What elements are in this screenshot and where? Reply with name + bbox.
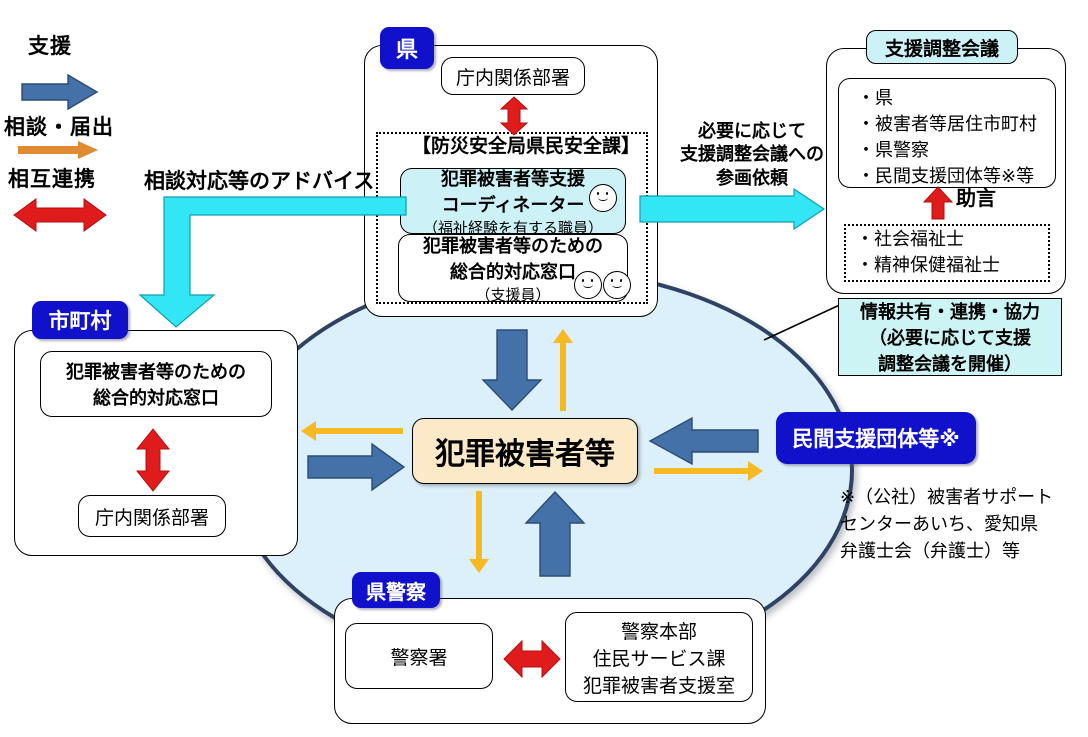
private-footnote-line2: センターあいち、愛知県 — [840, 511, 1080, 538]
police-hq-box: 警察本部 住民サービス課 犯罪被害者支援室 — [565, 612, 753, 702]
legend-red-double-arrow-icon — [12, 196, 108, 234]
prefecture-section-title: 【防災安全局県民安全課】 — [412, 136, 640, 158]
council-member-1: ・被害者等居住市町村 — [857, 110, 1037, 136]
private-org-footnote: ※（公社）被害者サポート センターあいち、愛知県 弁護士会（弁護士）等 — [840, 484, 1080, 565]
council-member-3: ・民間支援団体等※等 — [857, 162, 1034, 188]
legend-label-mutual: 相互連携 — [8, 168, 96, 192]
police-hq-line2: 住民サービス課 — [592, 644, 725, 671]
municipality-counter-line2: 総合的対応窓口 — [93, 384, 219, 410]
arrow-victim-to-police-yellow — [468, 490, 490, 574]
private-footnote-line3: 弁護士会（弁護士）等 — [840, 538, 1080, 565]
arrow-victim-to-private-yellow — [652, 460, 764, 482]
coordinator-line1: 犯罪被害者等支援 — [441, 165, 585, 191]
victim-center-box: 犯罪被害者等 — [412, 418, 638, 484]
arrow-victim-to-municipality-yellow — [300, 420, 404, 442]
arrow-victim-to-prefecture-yellow — [552, 328, 574, 412]
advice-cyan-elbow-arrow — [138, 195, 408, 330]
police-red-double-arrow — [503, 638, 561, 680]
legend-blue-arrow-icon — [20, 72, 100, 112]
counter-smiley-icon-2 — [603, 271, 631, 299]
private-org-badge: 民間支援団体等※ — [776, 412, 976, 464]
prefecture-badge-label: 県 — [396, 32, 418, 64]
council-request-cyan-arrow — [640, 188, 826, 230]
municipality-internal-dept-label: 庁内関係部署 — [95, 503, 209, 530]
request-line1: 必要に応じて — [668, 120, 836, 143]
police-badge: 県警察 — [352, 572, 440, 608]
info-callout-connector-line — [760, 300, 848, 342]
municipality-badge-label: 市町村 — [49, 305, 112, 335]
police-hq-line3: 犯罪被害者支援室 — [583, 671, 735, 698]
prefecture-internal-dept-label: 庁内関係部署 — [456, 63, 570, 90]
municipality-red-double-arrow — [134, 428, 172, 492]
council-badge-label: 支援調整会議 — [885, 34, 999, 61]
prefecture-counter-line3: （支援員） — [475, 284, 550, 305]
coordinator-smiley-icon — [589, 184, 617, 212]
council-member-0: ・県 — [857, 84, 893, 110]
prefecture-internal-dept-box: 庁内関係部署 — [441, 57, 585, 95]
council-advice-label: 助言 — [956, 188, 996, 211]
municipality-badge: 市町村 — [32, 301, 128, 339]
private-footnote-line1: ※（公社）被害者サポート — [840, 484, 1080, 511]
arrow-municipality-to-victim-blue — [306, 442, 406, 492]
police-hq-line1: 警察本部 — [621, 617, 697, 644]
council-advisors-text: ・社会福祉士 ・精神保健福祉士 — [856, 226, 1046, 278]
municipality-counter-line1: 犯罪被害者等のための — [66, 358, 246, 384]
legend-label-support: 支援 — [28, 35, 72, 59]
coordinator-line2: コーディネーター — [442, 191, 585, 217]
info-callout-line3: 調整会議を開催） — [878, 350, 1022, 376]
counter-smiley-icon-1 — [574, 271, 602, 299]
arrow-police-to-victim-blue — [524, 490, 586, 578]
prefecture-red-double-arrow — [498, 96, 530, 136]
prefecture-counter-line2: 総合的対応窓口 — [450, 258, 576, 284]
council-badge: 支援調整会議 — [866, 30, 1018, 64]
legend-orange-arrow-icon — [16, 140, 100, 160]
council-advisor-1: ・精神保健福祉士 — [856, 252, 1046, 278]
council-advice-red-arrow — [922, 186, 954, 220]
police-badge-label: 県警察 — [366, 576, 426, 605]
police-station-box: 警察署 — [345, 623, 493, 689]
legend-label-consult: 相談・届出 — [4, 116, 114, 140]
council-member-2: ・県警察 — [857, 136, 929, 162]
arrow-prefecture-to-victim-blue — [481, 328, 543, 412]
municipality-counter-box: 犯罪被害者等のための 総合的対応窓口 — [40, 351, 272, 417]
request-line3: 参画依頼 — [668, 167, 836, 190]
prefecture-badge: 県 — [380, 27, 434, 69]
police-station-label: 警察署 — [390, 643, 447, 670]
arrow-private-to-victim-blue — [648, 416, 760, 466]
private-org-badge-label: 民間支援団体等※ — [792, 423, 959, 453]
info-callout-line2: （必要に応じて支援 — [869, 324, 1031, 350]
victim-label: 犯罪被害者等 — [435, 429, 615, 473]
council-members-box: ・県 ・被害者等居住市町村 ・県警察 ・民間支援団体等※等 — [838, 78, 1056, 188]
council-request-label: 必要に応じて 支援調整会議への 参画依頼 — [668, 120, 836, 190]
council-advisor-0: ・社会福祉士 — [856, 226, 1046, 252]
advice-label: 相談対応等のアドバイス — [144, 170, 374, 194]
request-line2: 支援調整会議への — [668, 143, 836, 166]
info-share-callout: 情報共有・連携・協力 （必要に応じて支援 調整会議を開催） — [838, 298, 1062, 376]
municipality-internal-dept-box: 庁内関係部署 — [78, 495, 226, 537]
info-callout-line1: 情報共有・連携・協力 — [860, 298, 1040, 324]
diagram-canvas: 支援 相談・届出 相互連携 相談対応等のアドバイス 県 庁内関係部署 【防災安全… — [0, 0, 1088, 737]
prefecture-counter-line1: 犯罪被害者等のための — [423, 232, 603, 258]
